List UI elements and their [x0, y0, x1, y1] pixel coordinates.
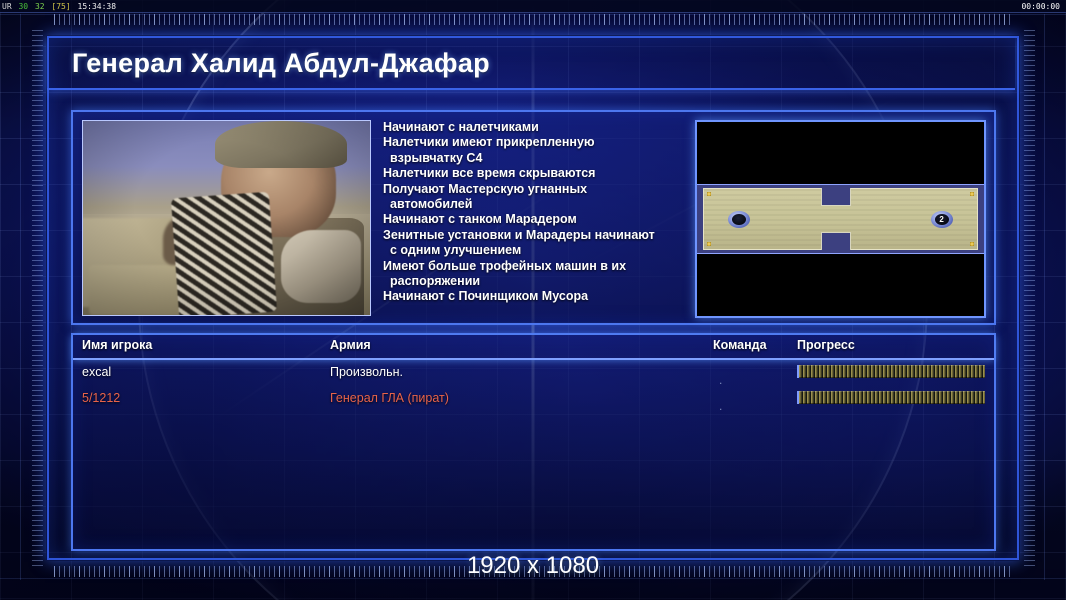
player-progress-bar	[797, 365, 985, 378]
column-header-team: Команда	[713, 338, 767, 352]
player-list-panel: Имя игрока Армия Команда Прогресс excalП…	[71, 333, 996, 551]
ability-text: Зенитные установки и Марадеры начинают	[383, 228, 655, 242]
ability-text: Начинают с Починщиком Мусора	[383, 289, 588, 303]
player-list-header: Имя игрока Армия Команда Прогресс	[73, 335, 994, 360]
top-status-bar: UR 30 32 [75] 15:34:38 00:00:00	[0, 0, 1066, 13]
minimap-start-position-2-label: 2	[935, 214, 949, 225]
portrait-vignette	[83, 121, 370, 315]
ability-text: Налетчики все время скрываются	[383, 166, 595, 180]
player-team[interactable]: .	[719, 399, 722, 413]
general-info-panel: Начинают с налетчикамиНалетчики имеют пр…	[71, 110, 996, 325]
ability-text: Имеют больше трофейных машин в их	[383, 259, 626, 273]
session-clock: 00:00:00	[1021, 0, 1060, 13]
ability-text: Начинают с налетчиками	[383, 120, 539, 134]
minimap: 2	[695, 120, 986, 318]
status-value-3: [75]	[49, 2, 70, 11]
status-value-1: 30	[16, 2, 28, 11]
decor-line-top	[0, 14, 1066, 15]
minimap-notch-top	[821, 188, 851, 206]
minimap-corner-marker-tr	[970, 192, 974, 196]
player-team[interactable]: .	[719, 373, 722, 387]
player-progress-bar	[797, 391, 985, 404]
minimap-start-position-1-label	[732, 214, 746, 225]
player-row[interactable]: excalПроизвольн..	[73, 361, 994, 387]
page-title: Генерал Халид Абдул-Джафар	[72, 48, 490, 79]
player-army[interactable]: Генерал ГЛА (пират)	[330, 391, 449, 405]
minimap-notch-bottom	[821, 232, 851, 250]
player-name: 5/1212	[82, 391, 120, 405]
general-portrait	[82, 120, 371, 316]
minimap-corner-marker-bl	[707, 242, 711, 246]
status-time: 15:34:38	[76, 2, 117, 11]
ability-text: Налетчики имеют прикрепленную	[383, 135, 595, 149]
player-army[interactable]: Произвольн.	[330, 365, 403, 379]
decor-line-left	[20, 14, 21, 580]
decor-line-right	[1044, 14, 1045, 580]
ability-text: Начинают с танком Марадером	[383, 212, 577, 226]
minimap-start-position-2[interactable]: 2	[931, 211, 953, 228]
column-header-player-name: Имя игрока	[82, 338, 152, 352]
game-lobby-screen: UR 30 32 [75] 15:34:38 00:00:00 Генерал …	[0, 0, 1066, 600]
column-header-army: Армия	[330, 338, 371, 352]
minimap-start-position-1[interactable]	[728, 211, 750, 228]
player-name: excal	[82, 365, 111, 379]
top-ruler	[54, 14, 1014, 25]
minimap-terrain-band: 2	[697, 184, 984, 254]
minimap-corner-marker-br	[970, 242, 974, 246]
player-row[interactable]: 5/1212Генерал ГЛА (пират).	[73, 387, 994, 413]
left-ruler	[32, 30, 43, 566]
minimap-landmass: 2	[703, 188, 979, 250]
minimap-corner-marker-tl	[707, 192, 711, 196]
column-header-progress: Прогресс	[797, 338, 855, 352]
ability-text: Получают Мастерскую угнанных	[383, 182, 587, 196]
status-label: UR	[0, 2, 12, 11]
resolution-label: 1920 x 1080	[0, 552, 1066, 580]
status-value-2: 32	[33, 2, 45, 11]
right-ruler	[1024, 30, 1035, 566]
